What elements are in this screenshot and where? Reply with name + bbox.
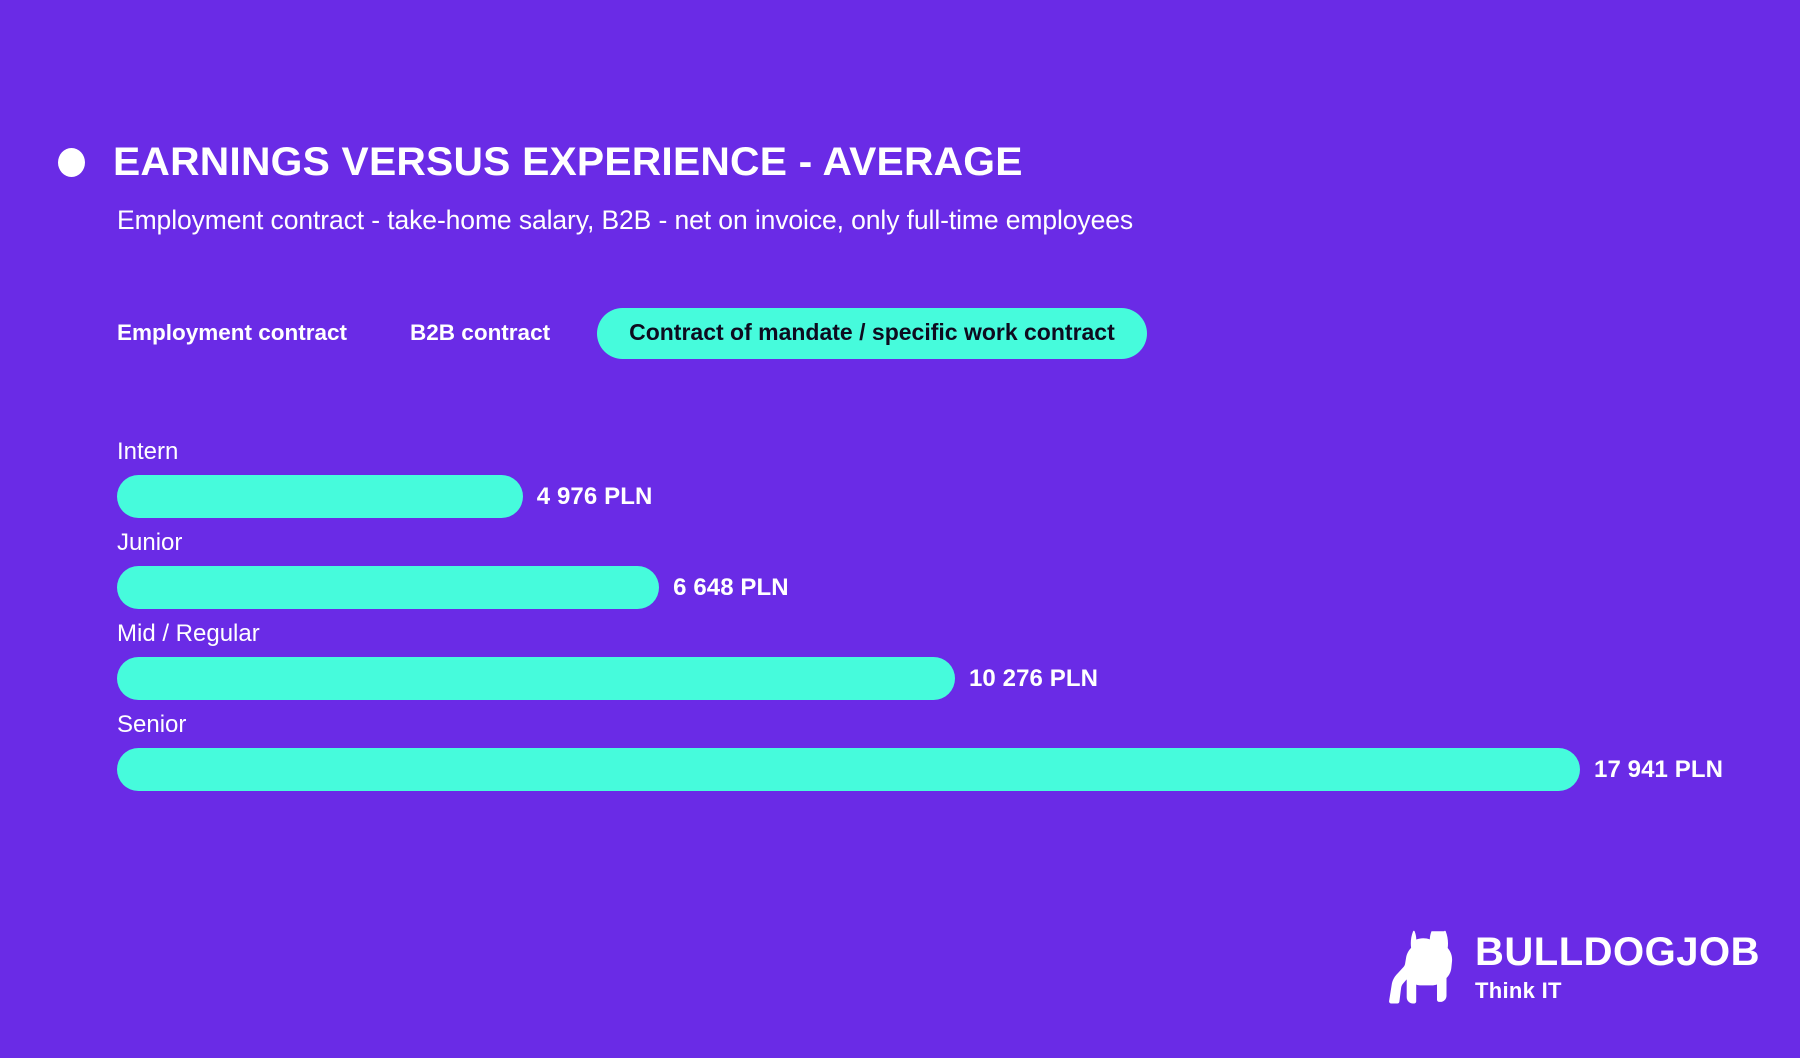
infographic-canvas: Earnings versus experience - average Emp… bbox=[0, 0, 1800, 1058]
page-title: Earnings versus experience - average bbox=[113, 142, 1023, 182]
bulldogjob-logo: BULLDOGJOB Think IT bbox=[1387, 928, 1760, 1006]
bar-label-mid-regular: Mid / Regular bbox=[117, 622, 1777, 646]
bar-value-mid-regular: 10 276 PLN bbox=[969, 667, 1098, 691]
tab-employment-contract[interactable]: Employment contract bbox=[117, 322, 347, 345]
bulldog-icon bbox=[1387, 928, 1459, 1006]
bar-value-junior: 6 648 PLN bbox=[673, 576, 789, 600]
bar-label-intern: Intern bbox=[117, 440, 1777, 464]
bar-group-junior: Junior 6 648 PLN bbox=[117, 531, 1777, 609]
title-row: Earnings versus experience - average bbox=[58, 142, 1005, 182]
bar-senior bbox=[117, 748, 1580, 791]
bar-row-junior: 6 648 PLN bbox=[117, 566, 1777, 609]
bar-row-intern: 4 976 PLN bbox=[117, 475, 1777, 518]
bar-group-intern: Intern 4 976 PLN bbox=[117, 440, 1777, 518]
logo-text: BULLDOGJOB Think IT bbox=[1475, 932, 1760, 1002]
bar-row-mid-regular: 10 276 PLN bbox=[117, 657, 1777, 700]
bullet-dot-icon bbox=[58, 148, 85, 177]
bar-mid-regular bbox=[117, 657, 955, 700]
bar-value-intern: 4 976 PLN bbox=[537, 485, 653, 509]
bar-intern bbox=[117, 475, 523, 518]
tab-b2b-contract[interactable]: B2B contract bbox=[410, 322, 550, 345]
bar-group-senior: Senior 17 941 PLN bbox=[117, 713, 1777, 791]
bar-label-junior: Junior bbox=[117, 531, 1777, 555]
bar-label-senior: Senior bbox=[117, 713, 1777, 737]
bar-row-senior: 17 941 PLN bbox=[117, 748, 1777, 791]
bar-group-mid-regular: Mid / Regular 10 276 PLN bbox=[117, 622, 1777, 700]
logo-tagline: Think IT bbox=[1475, 980, 1760, 1002]
bar-value-senior: 17 941 PLN bbox=[1594, 758, 1723, 782]
salary-bar-chart: Intern 4 976 PLN Junior 6 648 PLN Mid / … bbox=[117, 440, 1777, 804]
tab-contract-of-mandate[interactable]: Contract of mandate / specific work cont… bbox=[597, 308, 1147, 359]
page-subtitle: Employment contract - take-home salary, … bbox=[117, 205, 1133, 237]
logo-name: BULLDOGJOB bbox=[1475, 932, 1760, 972]
bar-junior bbox=[117, 566, 659, 609]
contract-type-tabs: Employment contract B2B contract Contrac… bbox=[117, 308, 1147, 359]
